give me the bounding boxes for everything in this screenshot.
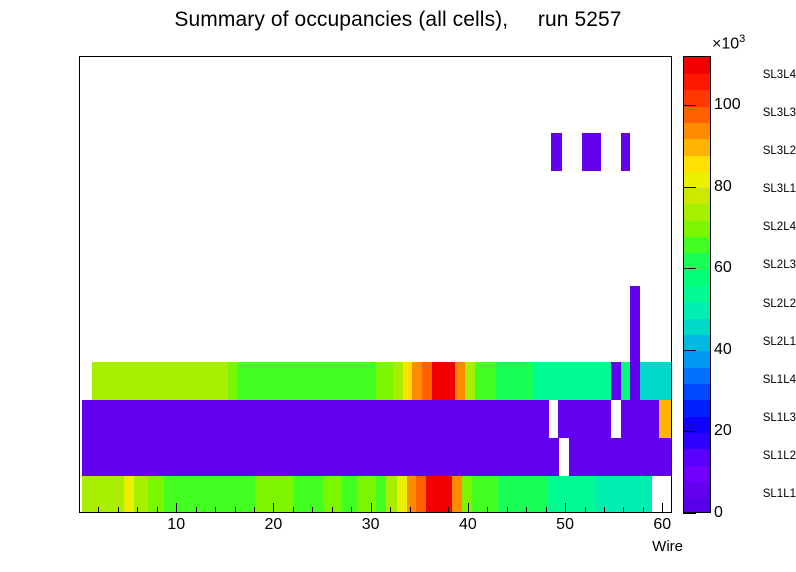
- x-axis-tick-minor: [410, 507, 411, 513]
- x-axis-tick-major: [565, 503, 566, 513]
- x-axis-tick-minor: [157, 507, 158, 513]
- x-axis-tick-minor: [526, 507, 527, 513]
- heatmap-cells: [80, 57, 671, 512]
- y-axis-label-sl3l1: SL3L1: [724, 183, 796, 195]
- z-axis-tick: [683, 268, 696, 269]
- z-axis-tick: [683, 350, 696, 351]
- x-axis-tick-major: [662, 503, 663, 513]
- heatmap-cell: [472, 476, 498, 513]
- heatmap-cell: [475, 362, 496, 400]
- heatmap-cell: [407, 476, 417, 513]
- z-axis-label-20: 20: [714, 422, 732, 440]
- y-axis-label-sl2l4: SL2L4: [724, 221, 796, 233]
- x-axis-tick-minor: [137, 507, 138, 513]
- heatmap-cell: [432, 362, 455, 400]
- heatmap-cell: [393, 362, 403, 400]
- plot-frame[interactable]: [79, 56, 672, 513]
- x-axis-label-30: 30: [362, 516, 380, 534]
- x-axis-tick-minor: [215, 507, 216, 513]
- color-bar-swatch: [684, 139, 710, 156]
- x-axis-tick-minor: [546, 507, 547, 513]
- y-axis-label-sl2l2: SL2L2: [724, 298, 796, 310]
- x-axis-tick-minor: [312, 507, 313, 513]
- z-exponent-power: 3: [739, 33, 745, 45]
- x-axis-tick-major: [273, 503, 274, 513]
- x-axis-tick-minor: [623, 507, 624, 513]
- color-bar-swatch: [684, 269, 710, 286]
- heatmap-cell: [82, 438, 559, 476]
- color-bar-swatch: [684, 302, 710, 319]
- y-axis-label-sl3l4: SL3L4: [724, 69, 796, 81]
- x-axis-tick-minor: [507, 507, 508, 513]
- heatmap-cell: [228, 362, 238, 400]
- heatmap-cell: [237, 362, 375, 400]
- y-axis-label-sl1l2: SL1L2: [724, 450, 796, 462]
- color-bar[interactable]: [683, 56, 711, 513]
- heatmap-cell: [640, 362, 671, 400]
- x-axis-tick-minor: [585, 507, 586, 513]
- color-bar-swatch: [684, 351, 710, 368]
- heatmap-cell: [549, 400, 559, 438]
- x-axis-tick-minor: [254, 507, 255, 513]
- z-axis-label-0: 0: [714, 504, 723, 522]
- heatmap-cell: [452, 476, 462, 513]
- x-axis-tick-minor: [332, 507, 333, 513]
- heatmap-cell: [527, 476, 546, 513]
- z-axis-label-80: 80: [714, 178, 732, 196]
- heatmap-cell: [82, 400, 549, 438]
- color-bar-swatch: [684, 498, 710, 513]
- heatmap-cell: [222, 476, 255, 513]
- heatmap-cell: [659, 400, 671, 438]
- heatmap-cell: [496, 362, 533, 400]
- heatmap-cell: [294, 476, 323, 513]
- z-axis-tick: [683, 187, 696, 188]
- heatmap-cell: [551, 133, 562, 171]
- heatmap-cell: [558, 400, 610, 438]
- heatmap-cell: [547, 476, 596, 513]
- heatmap-cell: [533, 362, 611, 400]
- x-axis-tick-minor: [604, 507, 605, 513]
- heatmap-cell: [498, 476, 527, 513]
- x-axis-label-10: 10: [167, 516, 185, 534]
- heatmap-cell: [397, 476, 407, 513]
- x-axis-tick-minor: [390, 507, 391, 513]
- x-axis-tick-major: [468, 503, 469, 513]
- x-axis-tick-minor: [487, 507, 488, 513]
- heatmap-cell: [611, 362, 621, 400]
- color-bar-swatch: [684, 367, 710, 384]
- heatmap-cell: [621, 133, 631, 171]
- heatmap-cell: [82, 362, 92, 400]
- heatmap-cell: [386, 476, 397, 513]
- heatmap-cell: [403, 362, 413, 400]
- x-axis-tick-major: [371, 503, 372, 513]
- heatmap-cell-tall: [630, 286, 640, 400]
- x-axis-tick-minor: [118, 507, 119, 513]
- color-bar-swatch: [684, 465, 710, 482]
- x-axis-tick-minor: [235, 507, 236, 513]
- z-axis-label-40: 40: [714, 341, 732, 359]
- y-axis-label-sl2l1: SL2L1: [724, 336, 796, 348]
- y-axis-label-sl1l4: SL1L4: [724, 374, 796, 386]
- heatmap-cell: [611, 400, 621, 438]
- color-bar-swatch: [684, 220, 710, 237]
- heatmap-cell: [416, 476, 426, 513]
- heatmap-cell: [582, 133, 601, 171]
- color-bar-swatch: [684, 286, 710, 303]
- root-canvas: Summary of occupancies (all cells), run …: [0, 0, 796, 572]
- heatmap-cell: [164, 476, 222, 513]
- x-axis-label-40: 40: [459, 516, 477, 534]
- heatmap-cell: [92, 362, 228, 400]
- heatmap-cell: [124, 476, 135, 513]
- page-title: Summary of occupancies (all cells), run …: [0, 8, 796, 32]
- x-axis-tick-major: [176, 503, 177, 513]
- x-axis-label-50: 50: [556, 516, 574, 534]
- x-axis-label-20: 20: [265, 516, 283, 534]
- y-axis-label-sl1l3: SL1L3: [724, 412, 796, 424]
- color-bar-swatch: [684, 188, 710, 205]
- y-axis-label-sl2l3: SL2L3: [724, 259, 796, 271]
- color-bar-swatch: [684, 106, 710, 123]
- color-bar-swatch: [684, 122, 710, 139]
- x-axis-tick-minor: [448, 507, 449, 513]
- heatmap-cell: [323, 476, 342, 513]
- color-bar-swatch: [684, 400, 710, 417]
- color-bar-swatch: [684, 73, 710, 90]
- z-axis-label-60: 60: [714, 259, 732, 277]
- heatmap-cell: [465, 362, 475, 400]
- heatmap-cell: [376, 362, 393, 400]
- x-axis-tick-minor: [98, 507, 99, 513]
- color-bar-swatch: [684, 449, 710, 466]
- x-axis-tick-minor: [196, 507, 197, 513]
- x-axis-label-60: 60: [653, 516, 671, 534]
- z-exponent-base: ×10: [712, 35, 739, 52]
- color-bar-swatch: [684, 318, 710, 335]
- heatmap-cell: [569, 438, 671, 476]
- z-axis-tick: [683, 513, 696, 514]
- color-bar-swatch: [684, 57, 710, 74]
- z-axis-tick: [683, 105, 696, 106]
- color-bar-swatch: [684, 383, 710, 400]
- heatmap-cell: [455, 362, 465, 400]
- x-axis-tick-minor: [643, 507, 644, 513]
- heatmap-cell: [422, 362, 432, 400]
- x-axis-title: Wire: [0, 538, 683, 555]
- z-axis-label-100: 100: [714, 96, 741, 114]
- color-bar-swatch: [684, 237, 710, 254]
- heatmap-cell: [412, 362, 422, 400]
- color-bar-swatch: [684, 432, 710, 449]
- heatmap-cell: [376, 476, 387, 513]
- x-axis-tick-minor: [351, 507, 352, 513]
- z-axis-exponent: ×103: [712, 33, 745, 53]
- heatmap-cell: [559, 438, 569, 476]
- x-axis-tick-minor: [429, 507, 430, 513]
- y-axis-label-sl1l1: SL1L1: [724, 488, 796, 500]
- color-bar-swatch: [684, 204, 710, 221]
- x-axis-tick-minor: [293, 507, 294, 513]
- heatmap-cell: [358, 476, 375, 513]
- color-bar-swatch: [684, 481, 710, 498]
- y-axis-label-sl3l2: SL3L2: [724, 145, 796, 157]
- z-axis-tick: [683, 431, 696, 432]
- heatmap-cell: [621, 400, 660, 438]
- color-bar-swatch: [684, 155, 710, 172]
